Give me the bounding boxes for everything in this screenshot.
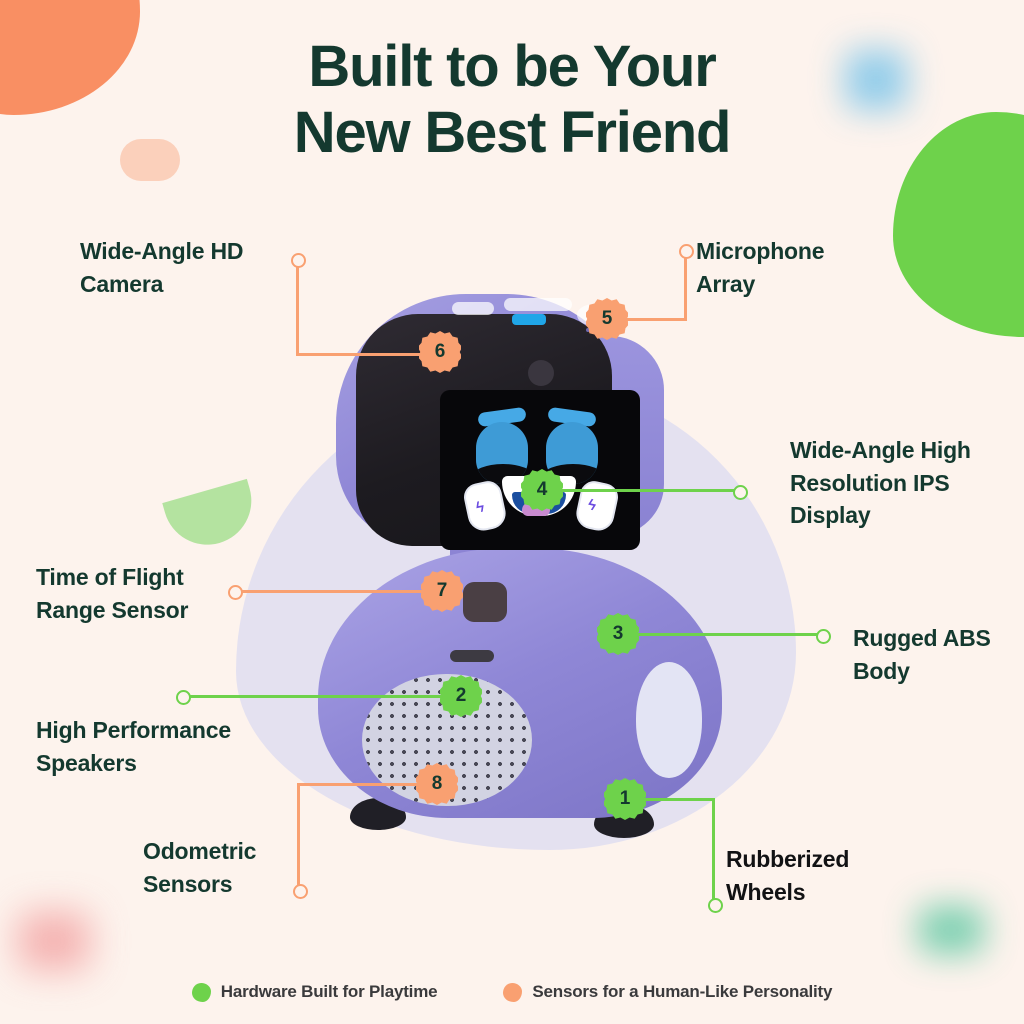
callout-label-display-line2: Resolution IPS: [790, 467, 1020, 500]
time-of-flight-sensor-window: [463, 582, 507, 622]
callout-label-display: Wide-Angle High Resolution IPS Display: [790, 434, 1020, 532]
callout-label-abs-body: Rugged ABS Body: [853, 622, 1024, 687]
callout-label-tof-line2: Range Sensor: [36, 594, 256, 627]
legend-label-hardware: Hardware Built for Playtime: [221, 982, 438, 1002]
decor-green-leaf-left: [162, 479, 261, 555]
callout-label-abs-body-line2: Body: [853, 655, 1024, 688]
callout-badge-6[interactable]: 6: [419, 331, 461, 373]
top-button-1: [452, 302, 494, 315]
callout-label-microphone-line1: Microphone: [696, 235, 896, 268]
callout-badge-8-number: 8: [432, 773, 443, 795]
callout-label-odometric-line2: Sensors: [143, 868, 343, 901]
callout-label-display-line1: Wide-Angle High: [790, 434, 1020, 467]
robot-face-animation: ϟ ϟ: [440, 390, 640, 550]
callout-label-microphone: Microphone Array: [696, 235, 896, 300]
decor-teal-blur-bottom-right: [918, 906, 984, 954]
callout-badge-2-number: 2: [456, 685, 467, 707]
callout-label-odometric-line1: Odometric: [143, 835, 343, 868]
top-button-blue-accent: [512, 314, 546, 325]
callout-badge-1[interactable]: 1: [604, 778, 646, 820]
legend-item-sensors: Sensors for a Human-Like Personality: [503, 982, 832, 1002]
callout-label-speakers-line2: Speakers: [36, 747, 306, 780]
callout-badge-7[interactable]: 7: [421, 570, 463, 612]
legend-label-sensors: Sensors for a Human-Like Personality: [532, 982, 832, 1002]
title-line-2: New Best Friend: [0, 100, 1024, 166]
callout-label-odometric: Odometric Sensors: [143, 835, 343, 900]
robot-head-face-bezel: ϟ ϟ: [356, 314, 612, 546]
body-slot-vent: [450, 650, 494, 662]
callout-label-speakers: High Performance Speakers: [36, 714, 306, 779]
callout-badge-8[interactable]: 8: [416, 763, 458, 805]
legend: Hardware Built for Playtime Sensors for …: [0, 982, 1024, 1002]
connector-endpoint-speakers: [176, 690, 191, 705]
robot-illustration: ϟ ϟ: [300, 286, 730, 856]
callout-badge-4-number: 4: [537, 479, 548, 501]
connector-endpoint-abs-body: [816, 629, 831, 644]
connector-endpoint-display: [733, 485, 748, 500]
callout-badge-7-number: 7: [437, 580, 448, 602]
callout-badge-3[interactable]: 3: [597, 613, 639, 655]
callout-badge-3-number: 3: [613, 623, 624, 645]
callout-label-wheels: Rubberized Wheels: [726, 843, 926, 908]
callout-badge-2[interactable]: 2: [440, 675, 482, 717]
callout-label-speakers-line1: High Performance: [36, 714, 306, 747]
decor-pink-blur-bottom-left: [18, 912, 90, 970]
callout-badge-6-number: 6: [435, 341, 446, 363]
camera-lens: [528, 360, 554, 386]
legend-dot-green: [192, 983, 211, 1002]
robot-display-screen: ϟ ϟ: [440, 390, 640, 550]
callout-label-abs-body-line1: Rugged ABS: [853, 622, 1024, 655]
infographic-canvas: Built to be Your New Best Friend: [0, 0, 1024, 1024]
connector-endpoint-wheels: [708, 898, 723, 913]
callout-badge-5[interactable]: 5: [586, 298, 628, 340]
callout-label-microphone-line2: Array: [696, 268, 896, 301]
callout-label-camera-line1: Wide-Angle HD: [80, 235, 310, 268]
legend-dot-orange: [503, 983, 522, 1002]
callout-label-wheels-line2: Wheels: [726, 876, 926, 909]
callout-label-tof-line1: Time of Flight: [36, 561, 256, 594]
callout-label-camera-line2: Camera: [80, 268, 310, 301]
title-line-1: Built to be Your: [308, 34, 715, 99]
callout-label-camera: Wide-Angle HD Camera: [80, 235, 310, 300]
page-title: Built to be Your New Best Friend: [0, 34, 1024, 165]
callout-label-display-line3: Display: [790, 499, 1020, 532]
connector-endpoint-microphone: [679, 244, 694, 259]
callout-badge-1-number: 1: [620, 788, 631, 810]
top-button-2: [504, 298, 572, 311]
legend-item-hardware: Hardware Built for Playtime: [192, 982, 438, 1002]
callout-label-wheels-line1: Rubberized: [726, 843, 926, 876]
callout-label-tof: Time of Flight Range Sensor: [36, 561, 256, 626]
hand-right: ϟ: [573, 479, 620, 534]
eye-left: [476, 422, 528, 484]
callout-badge-4[interactable]: 4: [521, 469, 563, 511]
wheel-cover-right: [636, 662, 702, 778]
callout-badge-5-number: 5: [602, 308, 613, 330]
